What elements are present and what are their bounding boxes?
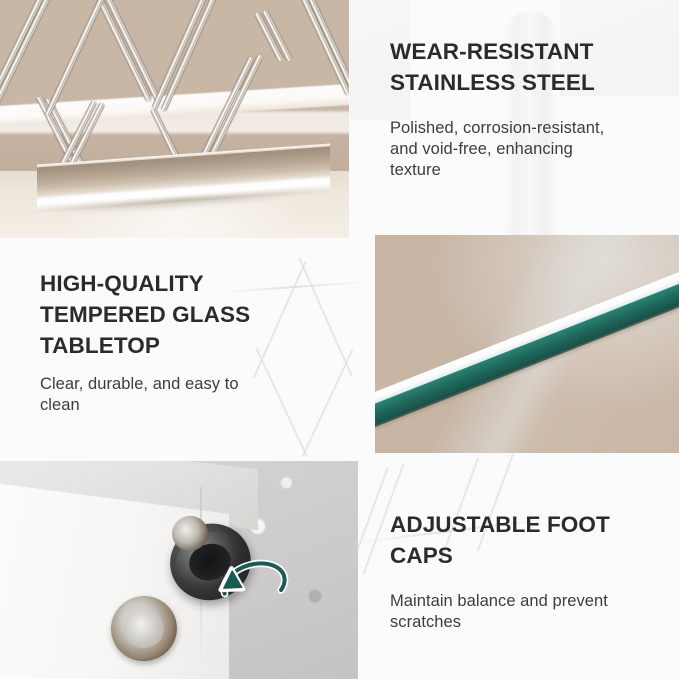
tempered-glass-edge-photo xyxy=(375,235,679,453)
adjustable-foot-cap-photo xyxy=(0,461,358,679)
feature-heading-tempered-glass: HIGH-QUALITY TEMPERED GLASS TABLETOP xyxy=(40,268,340,361)
feature-body-foot-caps: Maintain balance and prevent scratches xyxy=(390,591,670,633)
feature-body-tempered-glass: Clear, durable, and easy to clean xyxy=(40,374,340,416)
feature-text-stainless-steel: WEAR-RESISTANT STAINLESS STEEL Polished,… xyxy=(374,22,674,222)
feature-heading-stainless-steel: WEAR-RESISTANT STAINLESS STEEL xyxy=(390,36,662,98)
feature-body-stainless-steel: Polished, corrosion-resistant, and void-… xyxy=(390,118,662,181)
rotation-arrow-icon xyxy=(190,548,319,622)
feature-text-tempered-glass: HIGH-QUALITY TEMPERED GLASS TABLETOP Cle… xyxy=(22,258,352,448)
feature-heading-foot-caps: ADJUSTABLE FOOT CAPS xyxy=(390,509,670,571)
feature-infographic: WEAR-RESISTANT STAINLESS STEEL Polished,… xyxy=(0,0,679,679)
feature-text-foot-caps: ADJUSTABLE FOOT CAPS Maintain balance an… xyxy=(376,495,676,645)
stainless-steel-frame-photo xyxy=(0,0,349,238)
